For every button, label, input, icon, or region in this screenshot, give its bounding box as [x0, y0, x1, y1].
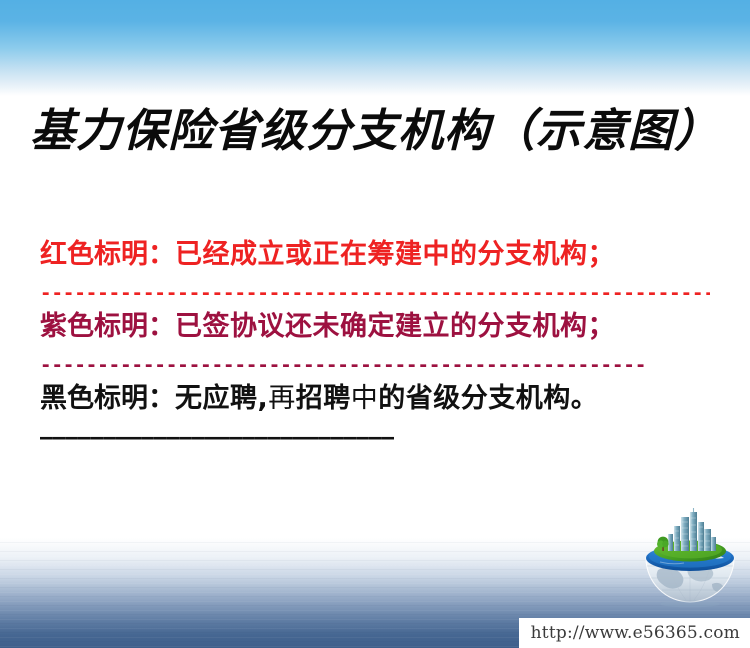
legend-text-black-thin-1: 再: [268, 383, 296, 414]
sky-gradient-background: [0, 0, 750, 96]
legend-label-red: 红色标明：: [40, 239, 175, 270]
legend-row-red: 红色标明：已经成立或正在筹建中的分支机构；: [40, 238, 710, 272]
legend-label-black: 黑色标明：: [40, 383, 175, 414]
divider-black: ————————————————————————————: [40, 426, 710, 448]
legend-text-black-2: 招聘: [296, 383, 351, 414]
divider-red: ----------------------------------------…: [40, 282, 710, 304]
page-title: 基力保险省级分支机构（示意图）: [0, 100, 750, 162]
divider-purple: ----------------------------------------…: [40, 354, 710, 376]
slide-canvas: 基力保险省级分支机构（示意图） 红色标明：已经成立或正在筹建中的分支机构； --…: [0, 0, 750, 648]
legend-text-red: 已经成立或正在筹建中的分支机构；: [175, 239, 615, 270]
legend-text-purple-after: 建立的分支机构；: [395, 311, 615, 342]
globe-city-logo: [638, 508, 742, 608]
legend-row-black: 黑色标明：无应聘,再招聘中的省级分支机构。: [40, 382, 710, 416]
legend-text-black-3: 的省级分支机构。: [378, 383, 598, 414]
legend-text-black-thin-2: 中: [351, 383, 379, 414]
legend-text-black-1: 无应聘,: [175, 383, 268, 414]
legend-block: 红色标明：已经成立或正在筹建中的分支机构； ------------------…: [40, 232, 710, 448]
legend-label-purple: 紫色标明：: [40, 311, 175, 342]
url-watermark-text: http://www.e56365.com: [531, 623, 740, 643]
legend-row-purple: 紫色标明：已签协议还未确定建立的分支机构；: [40, 310, 710, 344]
legend-text-purple-emphasis: 还未确定: [285, 311, 395, 342]
city-buildings: [668, 508, 716, 551]
legend-text-purple-before: 已签协议: [175, 311, 285, 342]
url-watermark: http://www.e56365.com: [519, 618, 750, 648]
